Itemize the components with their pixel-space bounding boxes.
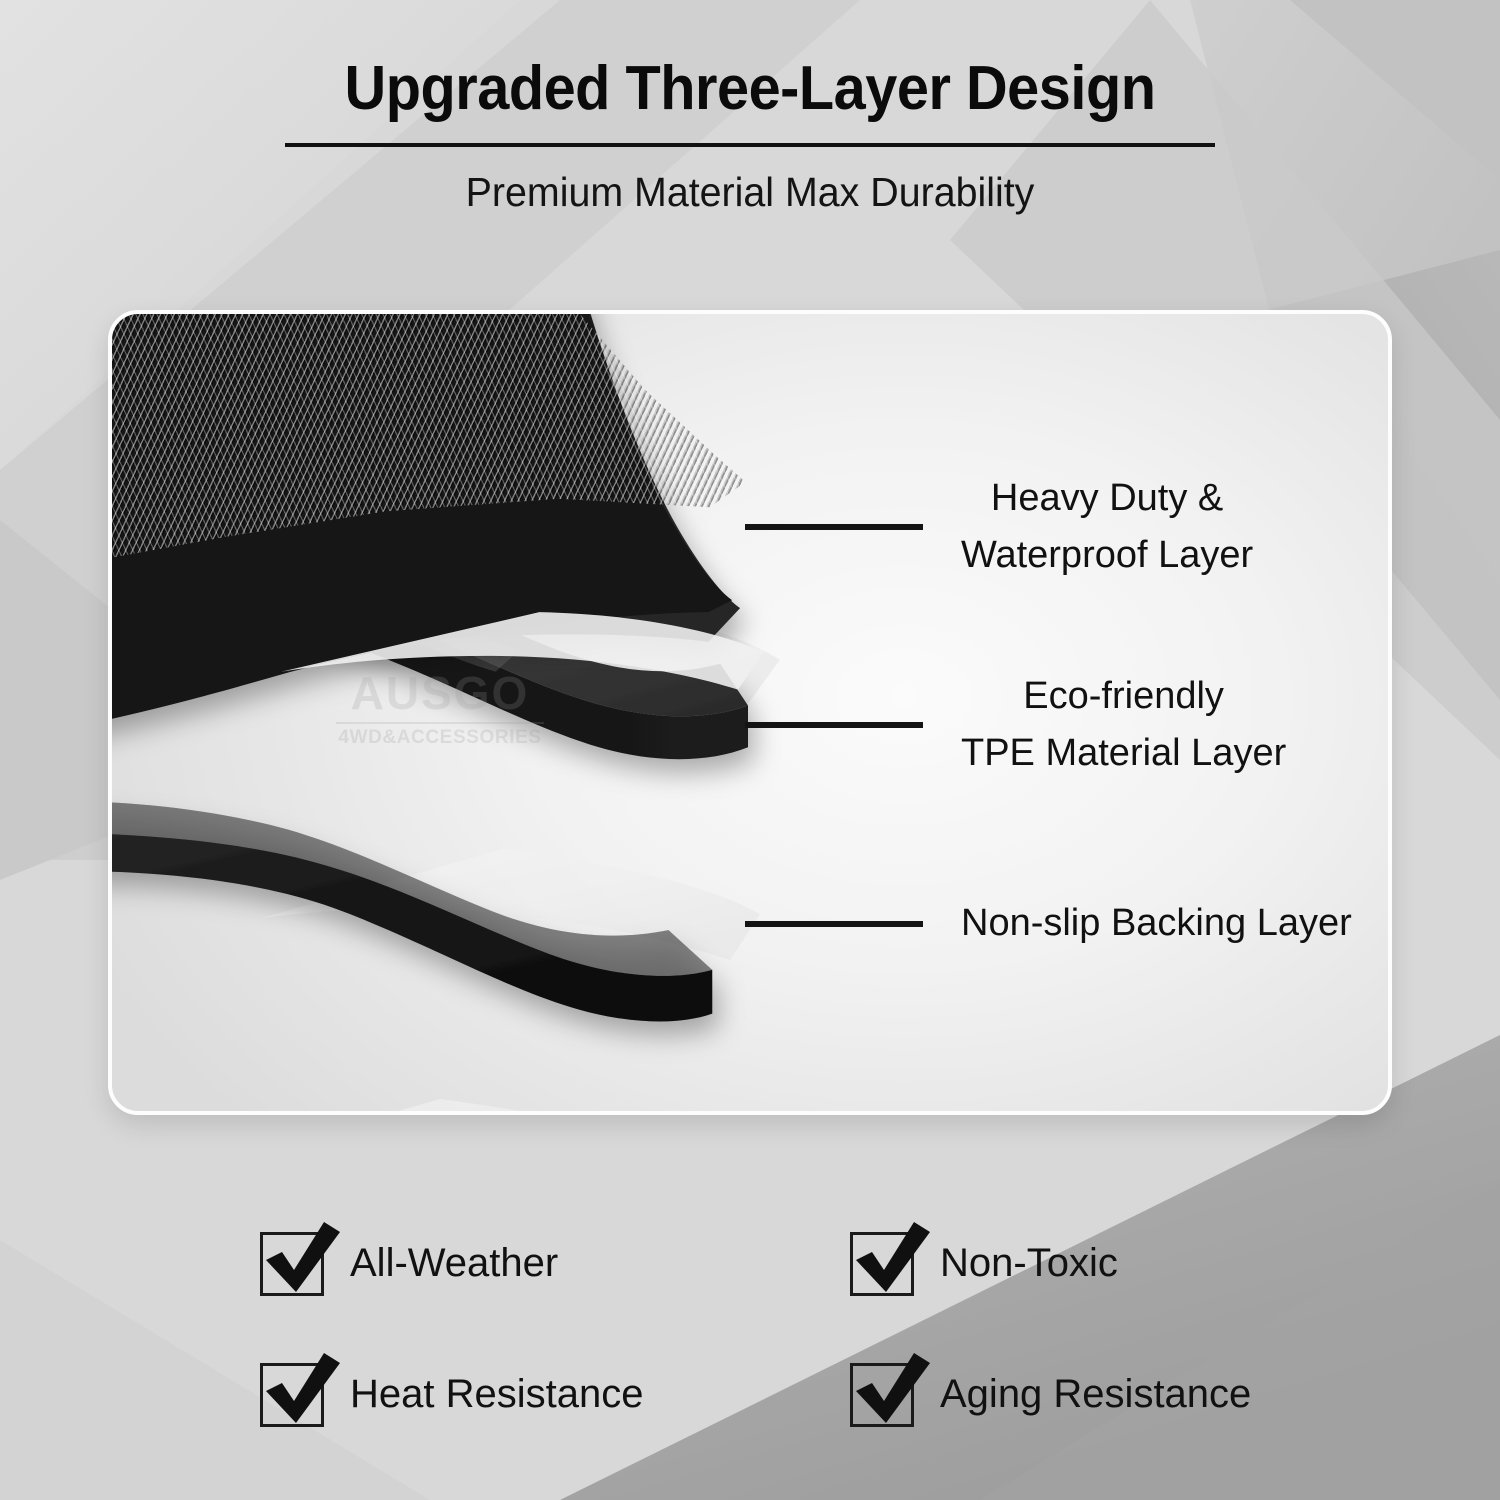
checkbox-checked-icon bbox=[260, 1363, 324, 1427]
checkbox-checked-icon bbox=[850, 1232, 914, 1296]
infographic-canvas: Upgraded Three-Layer Design Premium Mate… bbox=[0, 0, 1500, 1500]
page-subtitle: Premium Material Max Durability bbox=[30, 169, 1470, 216]
header: Upgraded Three-Layer Design Premium Mate… bbox=[0, 56, 1500, 216]
callout-label: Eco-friendly TPE Material Layer bbox=[961, 668, 1286, 782]
checkmark-icon bbox=[256, 1347, 344, 1435]
feature-label: All-Weather bbox=[350, 1241, 558, 1286]
checkbox-checked-icon bbox=[850, 1363, 914, 1427]
feature-item-aging-resistance: Aging Resistance bbox=[850, 1329, 1440, 1460]
callout-non-slip-backing-layer: Non-slip Backing Layer bbox=[745, 895, 1352, 952]
feature-label: Non-Toxic bbox=[940, 1241, 1118, 1286]
leader-line bbox=[745, 921, 923, 927]
feature-label: Heat Resistance bbox=[350, 1372, 643, 1417]
feature-label: Aging Resistance bbox=[940, 1372, 1251, 1417]
feature-item-heat-resistance: Heat Resistance bbox=[260, 1329, 850, 1460]
callout-heavy-duty-waterproof-layer: Heavy Duty & Waterproof Layer bbox=[745, 470, 1253, 584]
callout-eco-friendly-tpe-material-layer: Eco-friendly TPE Material Layer bbox=[745, 668, 1286, 782]
checkmark-icon bbox=[846, 1347, 934, 1435]
checkbox-checked-icon bbox=[260, 1232, 324, 1296]
feature-item-all-weather: All-Weather bbox=[260, 1198, 850, 1329]
leader-line bbox=[745, 524, 923, 530]
page-title: Upgraded Three-Layer Design bbox=[53, 56, 1448, 121]
checkmark-icon bbox=[256, 1216, 344, 1304]
callout-label: Heavy Duty & Waterproof Layer bbox=[961, 470, 1253, 584]
callout-label: Non-slip Backing Layer bbox=[961, 895, 1352, 952]
feature-item-non-toxic: Non-Toxic bbox=[850, 1198, 1440, 1329]
feature-list: All-Weather Non-Toxic Heat Resistance bbox=[260, 1198, 1440, 1460]
leader-line bbox=[745, 722, 923, 728]
checkmark-icon bbox=[846, 1216, 934, 1304]
title-divider bbox=[285, 143, 1215, 147]
